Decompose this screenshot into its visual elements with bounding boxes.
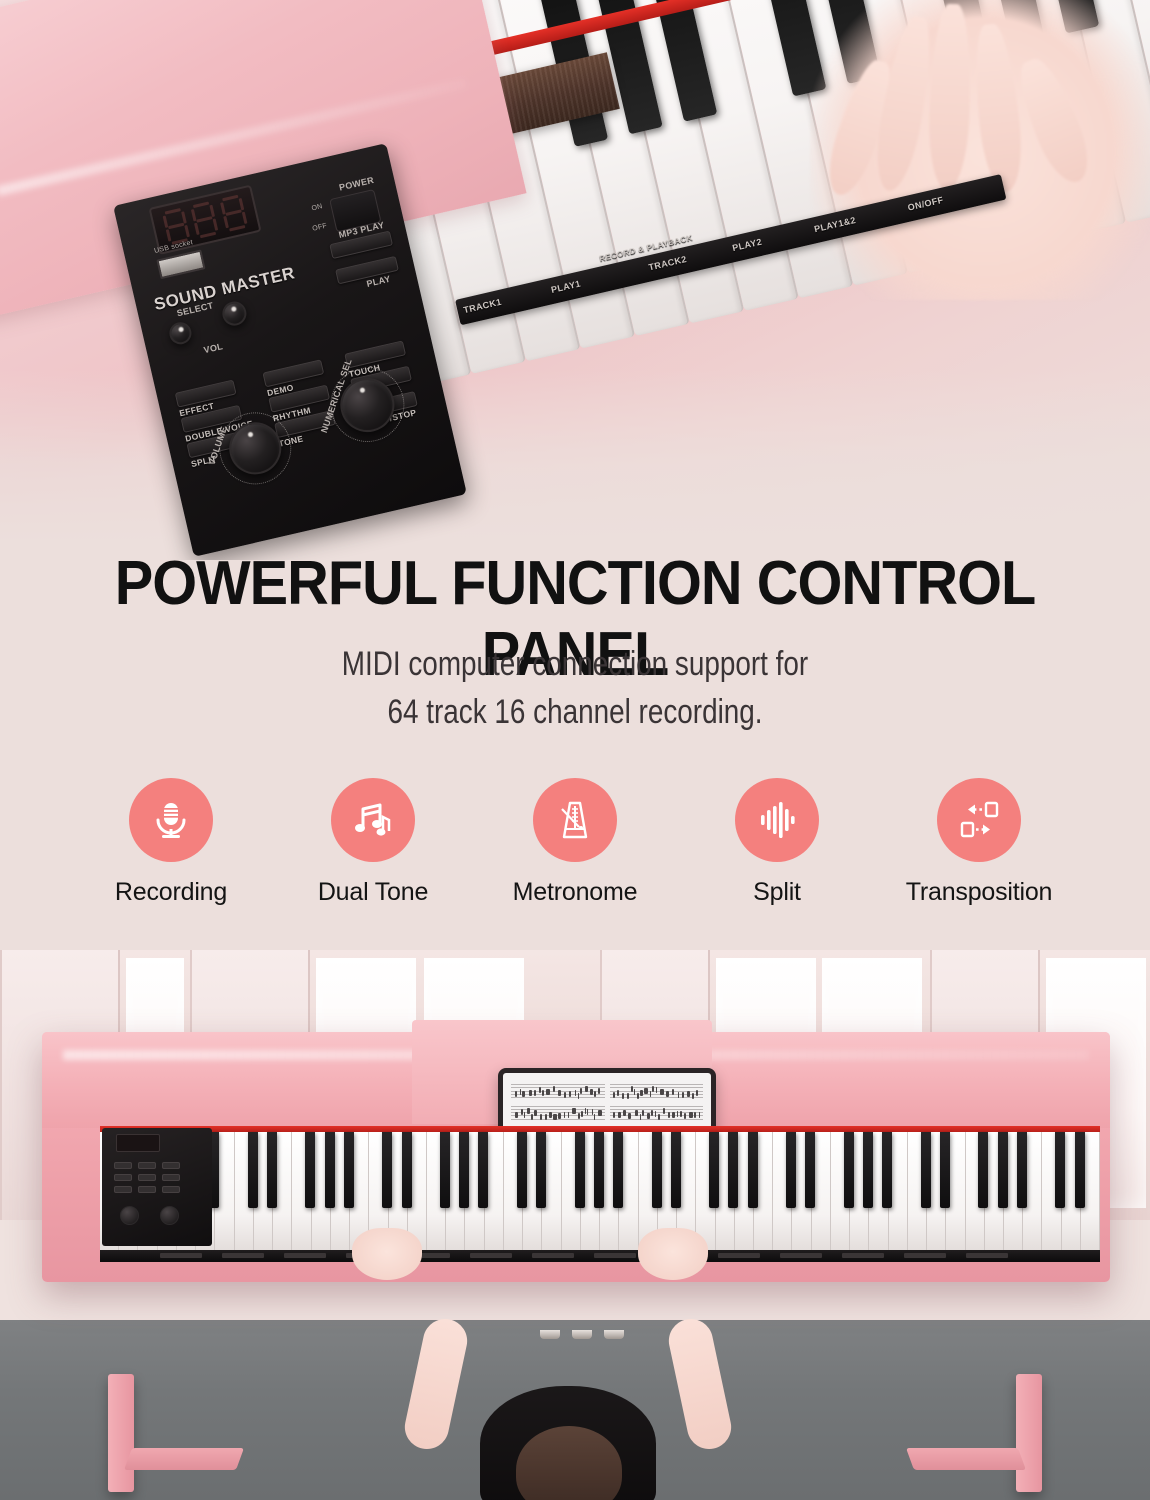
feature-label: Split (693, 878, 861, 907)
black-key[interactable] (536, 1132, 546, 1208)
track-strip-label[interactable]: PLAY2 (731, 237, 763, 254)
track-strip-label[interactable]: TRACK2 (648, 254, 688, 272)
black-key[interactable] (728, 1132, 738, 1208)
full-piano-photo (0, 950, 1150, 1500)
black-key[interactable] (248, 1132, 258, 1208)
black-key[interactable] (517, 1132, 527, 1208)
track-strip-label[interactable]: PLAY1&2 (813, 215, 857, 234)
track-strip-label[interactable]: TRACK1 (462, 297, 502, 315)
black-key[interactable] (709, 1132, 719, 1208)
piano-leg-brace-left (124, 1448, 244, 1470)
panel-button[interactable] (262, 359, 324, 387)
volume-knob-bottom[interactable] (120, 1206, 139, 1225)
metronome-icon (533, 778, 617, 862)
piano-leg-left (108, 1374, 134, 1492)
black-key[interactable] (978, 1132, 988, 1208)
feature-label: Dual Tone (289, 878, 457, 907)
pedal-sustain[interactable] (604, 1330, 624, 1339)
music-staff (610, 1106, 704, 1121)
track-strip-label[interactable]: ON/OFF (907, 195, 945, 213)
black-key[interactable] (267, 1132, 277, 1208)
control-panel-bottom (102, 1128, 212, 1246)
left-hand-on-keys (352, 1228, 422, 1280)
pianist-overhead (408, 1356, 728, 1500)
pedal-soft[interactable] (540, 1330, 560, 1339)
black-key[interactable] (863, 1132, 873, 1208)
black-key[interactable] (805, 1132, 815, 1208)
black-key[interactable] (786, 1132, 796, 1208)
black-key[interactable] (652, 1132, 662, 1208)
black-key[interactable] (921, 1132, 931, 1208)
black-key[interactable] (844, 1132, 854, 1208)
black-key[interactable] (882, 1132, 892, 1208)
black-key[interactable] (325, 1132, 335, 1208)
microphone-icon (129, 778, 213, 862)
feature-transposition: Transposition (895, 778, 1063, 907)
black-key[interactable] (382, 1132, 392, 1208)
hand-playing-keys (810, 0, 1150, 300)
feature-label: Metronome (491, 878, 659, 907)
numerical-sel-knob-bottom[interactable] (160, 1206, 179, 1225)
black-key[interactable] (613, 1132, 623, 1208)
record-playback-strip-bottom (100, 1250, 1100, 1262)
page-subtitle: MIDI computer connection support for 64 … (104, 640, 1047, 737)
black-keys-group-bottom (100, 1132, 1100, 1208)
music-staff (511, 1106, 605, 1121)
black-key[interactable] (1075, 1132, 1085, 1208)
control-panel-photo: USB socket POWER ON OFF SOUND MASTER MP3… (0, 0, 1150, 560)
right-hand-on-keys (638, 1228, 708, 1280)
black-key[interactable] (459, 1132, 469, 1208)
product-feature-page: USB socket POWER ON OFF SOUND MASTER MP3… (0, 0, 1150, 1500)
black-key[interactable] (402, 1132, 412, 1208)
black-key[interactable] (1017, 1132, 1027, 1208)
transpose-arrows-icon (937, 778, 1021, 862)
black-key[interactable] (748, 1132, 758, 1208)
feature-metronome: Metronome (491, 778, 659, 907)
feature-label: Transposition (895, 878, 1063, 907)
keyboard-keys-bottom (100, 1132, 1100, 1250)
black-key[interactable] (305, 1132, 315, 1208)
black-key[interactable] (998, 1132, 1008, 1208)
pedal-sostenuto[interactable] (572, 1330, 592, 1339)
piano-leg-right (1016, 1374, 1042, 1492)
piano-leg-brace-right (906, 1448, 1026, 1470)
waveform-icon (735, 778, 819, 862)
music-staff (610, 1084, 704, 1099)
black-key[interactable] (940, 1132, 950, 1208)
led-display-bottom (116, 1134, 160, 1152)
black-key[interactable] (440, 1132, 450, 1208)
music-staff (511, 1084, 605, 1099)
feature-split: Split (693, 778, 861, 907)
track-strip-label[interactable]: PLAY1 (550, 278, 582, 295)
black-key[interactable] (478, 1132, 488, 1208)
subtitle-line-1: MIDI computer connection support for (104, 640, 1047, 688)
black-key[interactable] (594, 1132, 604, 1208)
feature-dual-tone: Dual Tone (289, 778, 457, 907)
black-key[interactable] (575, 1132, 585, 1208)
feature-recording: Recording (87, 778, 255, 907)
black-key[interactable] (1055, 1132, 1065, 1208)
subtitle-line-2: 64 track 16 channel recording. (104, 688, 1047, 736)
feature-label: Recording (87, 878, 255, 907)
music-notes-icon (331, 778, 415, 862)
feature-icon-row: Recording Dual Tone (0, 778, 1150, 907)
black-key[interactable] (344, 1132, 354, 1208)
piano-body (42, 1032, 1110, 1282)
black-key[interactable] (671, 1132, 681, 1208)
